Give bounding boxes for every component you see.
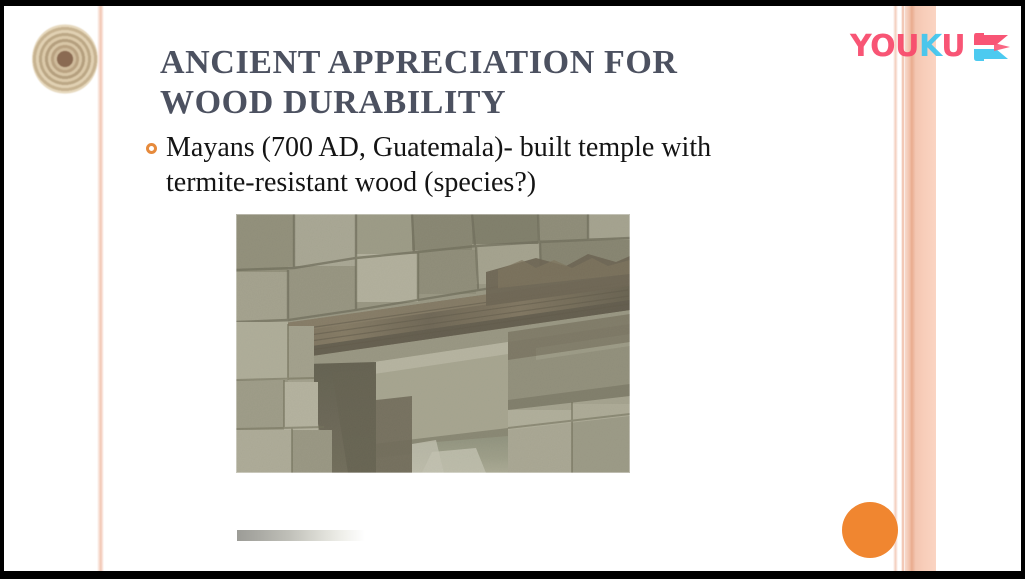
bullet-list-item: Mayans (700 AD, Guatemala)- built temple…	[146, 130, 846, 200]
orange-dot	[842, 502, 898, 558]
youku-watermark: YOUKU	[850, 32, 1012, 62]
youku-letter-u: U	[941, 29, 965, 64]
youku-wordmark: YOUKU	[850, 32, 965, 62]
presentation-slide: Ancient Appreciation for Wood Durability…	[4, 6, 1021, 571]
decorative-stripe-left	[97, 6, 104, 571]
gradient-rule	[237, 530, 365, 541]
decorative-stripe-right-hairline	[893, 6, 898, 571]
tree-ring-icon	[32, 24, 98, 94]
bullet-text: Mayans (700 AD, Guatemala)- built temple…	[166, 130, 711, 200]
play-arrow-icon	[972, 32, 1012, 62]
youku-letters-you: YOU	[850, 29, 919, 64]
youku-letter-k: K	[919, 29, 941, 64]
mayan-temple-photo-graphic	[236, 214, 630, 473]
decorative-stripe-right-thin	[901, 6, 905, 571]
bullet-open-circle-icon	[146, 143, 157, 154]
video-player-frame: Ancient Appreciation for Wood Durability…	[0, 0, 1025, 579]
decorative-stripe-right-band	[905, 6, 936, 571]
mayan-temple-photo	[236, 214, 630, 473]
slide-title: Ancient Appreciation for Wood Durability	[160, 43, 820, 123]
